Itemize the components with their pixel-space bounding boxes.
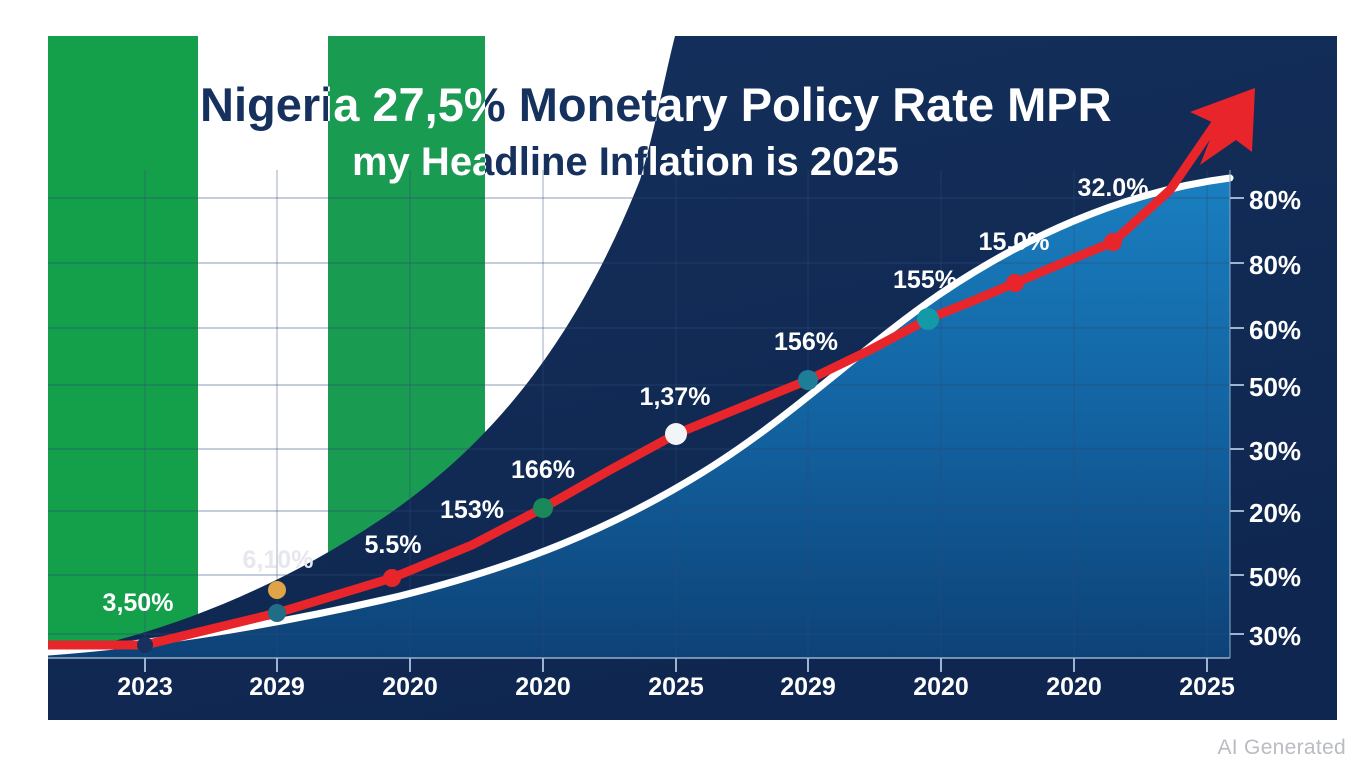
point-label-8: 15,0% — [979, 228, 1050, 256]
x-tick-label-6: 2020 — [913, 673, 969, 701]
y-tick-label-5: 20% — [1249, 498, 1301, 528]
marker-3-50 — [137, 637, 153, 653]
flag-band-green-left — [48, 36, 198, 720]
point-label-7: 155% — [893, 266, 957, 294]
chart-canvas: 3,50% 6,10% 5.5% 153% 166% 1,37% 156% 15… — [0, 0, 1368, 768]
point-label-5: 1,37% — [640, 383, 711, 411]
marker-6-10-teal — [268, 604, 286, 622]
y-tick-label-1: 80% — [1249, 250, 1301, 280]
marker-1-37 — [665, 423, 687, 445]
marker-156 — [798, 370, 818, 390]
x-tick-label-4: 2025 — [648, 673, 704, 701]
x-tick-label-5: 2029 — [780, 673, 836, 701]
point-label-0: 3,50% — [103, 589, 174, 617]
y-tick-label-4: 30% — [1249, 436, 1301, 466]
point-label-1: 6,10% — [243, 546, 314, 574]
marker-166 — [533, 498, 553, 518]
x-tick-label-8: 2025 — [1179, 673, 1235, 701]
x-tick-label-1: 2029 — [249, 673, 305, 701]
marker-5-5 — [383, 569, 401, 587]
point-label-3: 153% — [440, 496, 504, 524]
point-label-6: 156% — [774, 328, 838, 356]
x-tick-label-3: 2020 — [515, 673, 571, 701]
y-tick-label-7: 30% — [1249, 621, 1301, 651]
ai-generated-note: AI Generated — [1217, 736, 1346, 760]
y-tick-label-6: 50% — [1249, 562, 1301, 592]
marker-155 — [917, 308, 939, 330]
x-tick-label-2: 2020 — [382, 673, 438, 701]
chart-figure: 3,50% 6,10% 5.5% 153% 166% 1,37% 156% 15… — [0, 0, 1368, 768]
marker-6-10-orange — [268, 581, 286, 599]
y-tick-label-3: 50% — [1249, 372, 1301, 402]
y-tick-label-2: 60% — [1249, 315, 1301, 345]
x-tick-label-0: 2023 — [117, 673, 173, 701]
x-axis-tick-labels: 2023 2029 2020 2020 2025 2029 2020 2020 … — [117, 673, 1235, 701]
point-label-2: 5.5% — [365, 531, 422, 559]
x-tick-label-7: 2020 — [1046, 673, 1102, 701]
y-tick-label-0: 80% — [1249, 185, 1301, 215]
point-label-4: 166% — [511, 456, 575, 484]
marker-32-0 — [1104, 233, 1122, 251]
marker-15-0 — [1006, 274, 1024, 292]
point-label-9: 32.0% — [1078, 174, 1149, 202]
